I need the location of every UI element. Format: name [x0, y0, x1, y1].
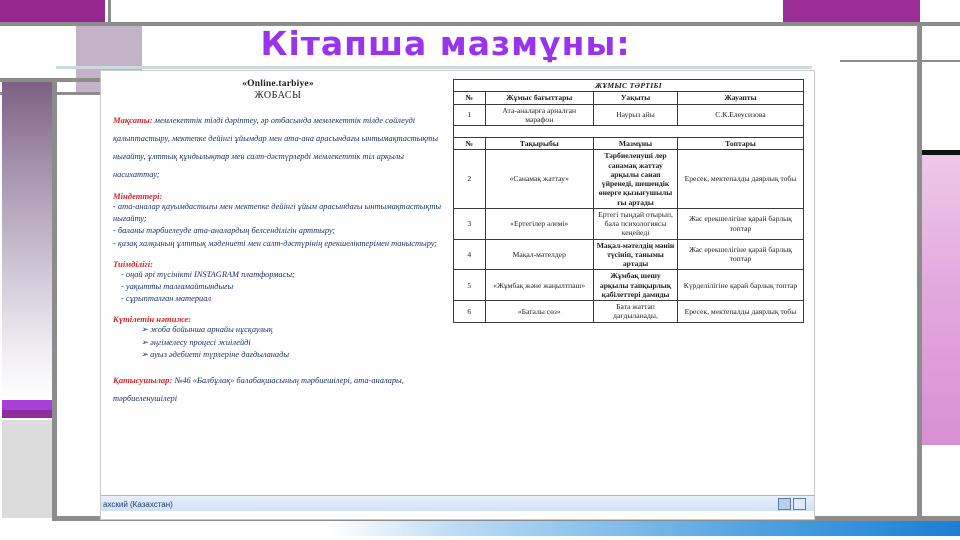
table-row: 4 Мақал-мәтелдер Мақал-мәтелдің мәнін тү… — [454, 239, 804, 270]
slide-canvas: Кітапша мазмұны: «Online.tarbiye» ЖОБАСЫ… — [0, 0, 960, 540]
document-page: «Online.tarbiye» ЖОБАСЫ Мақсаты: мемлеке… — [101, 71, 814, 495]
section-tiimdiligi: Тиімділігі: - оңай әрі түсінікті INSTAGR… — [113, 259, 443, 306]
cell-groups: Күрделілігіне қарай барлық топтар — [678, 270, 804, 301]
section-mindetteri: Міндеттері: - ата-аналар қауымдастығы ме… — [113, 191, 443, 250]
cell-groups: Ересек, мектепалды даярлық тобы — [678, 150, 804, 209]
cell-groups: Ересек, мектепалды даярлық тобы — [678, 301, 804, 323]
section-heading: Күтілетін нәтиже: — [113, 314, 443, 324]
schedule-table: ЖҰМЫС ТӘРТІБІ № Жұмыс бағыттары Уақыты Ж… — [453, 79, 804, 323]
column-header-groups: Топтары — [678, 138, 804, 150]
deco-bottom-white-band — [52, 521, 330, 540]
column-header-content: Мазмұны — [594, 138, 678, 150]
column-header-theme: Тақырыбы — [485, 138, 594, 150]
project-subtitle: ЖОБАСЫ — [113, 90, 443, 101]
cell-theme: «Санамақ жаттау» — [485, 150, 594, 209]
deco-left-vertical-rule — [52, 82, 57, 532]
cell-groups: Жас ерекшелігіне қарай барлық топтар — [678, 208, 804, 239]
deco-top-right-block — [783, 0, 920, 22]
list-item: - ата-аналар қауымдастығы мен мектепке д… — [113, 201, 443, 225]
deco-top-corner — [923, 0, 960, 22]
column-header-topic: Жұмыс бағыттары — [485, 92, 594, 104]
list-item: ➢ ауыз әдебиеті түрлеріне дағдыланады — [113, 349, 443, 361]
cell-no: 6 — [454, 301, 486, 323]
section-maqsaty: Мақсаты: мемлекеттік тілді дәріптеу, әр … — [113, 110, 443, 182]
document-text-pane: «Online.tarbiye» ЖОБАСЫ Мақсаты: мемлеке… — [101, 71, 453, 495]
cell-no: 2 — [454, 150, 486, 209]
cell-owner: С.К.Елеусизова — [678, 104, 804, 126]
section-qatysushylar: Қатысушылар: №46 «Балбұлақ» балабақшасын… — [113, 370, 443, 406]
section-heading: Мақсаты: — [113, 115, 153, 125]
list-item: - сұрыпталған материал — [113, 293, 443, 305]
project-name: «Online.tarbiye» — [113, 79, 443, 89]
view-mode-buttons[interactable] — [778, 498, 806, 510]
status-language-label: ахский (Казахстан) — [101, 500, 173, 509]
title-underline — [56, 66, 812, 69]
cell-topic: Ата-аналарға арналған марафон — [485, 104, 594, 126]
table-row: 2 «Санамақ жаттау» Тәрбиеленуші лер сана… — [454, 150, 804, 209]
table-spacer-row — [454, 126, 804, 138]
section-body: мемлекеттік тілді дәріптеу, әр отбасында… — [113, 116, 438, 179]
cell-time: Наурыз айы — [594, 104, 678, 126]
table-row: 5 «Жұмбақ және жаңылтпаш» Жұмбақ шешу ар… — [454, 270, 804, 301]
cell-content: Тәрбиеленуші лер санамақ жаттау арқылы с… — [594, 150, 678, 209]
table-caption: ЖҰМЫС ТӘРТІБІ — [454, 80, 804, 92]
document-bottom-margin — [101, 511, 814, 519]
cell-theme: «Жұмбақ және жаңылтпаш» — [485, 270, 594, 301]
cell-content: Мақал-мәтелдің мәнін түсініп, танымы арт… — [594, 239, 678, 270]
deco-right-hrule — [840, 60, 960, 62]
cell-no: 5 — [454, 270, 486, 301]
cell-theme: Мақал-мәтелдер — [485, 239, 594, 270]
list-item: ➢ әңгімелесу процесі жиілейді — [113, 337, 443, 349]
document-status-bar[interactable]: ахский (Казахстан) — [101, 495, 814, 512]
list-item: ➢ жоба бойынша арнайы нұсқаулық — [113, 324, 443, 336]
column-header-time: Уақыты — [594, 92, 678, 104]
list-item: - уақытты талғамайтындығы — [113, 281, 443, 293]
cell-content: Жұмбақ шешу арқылы тапқырлық қабілеттері… — [594, 270, 678, 301]
cell-theme: «Баталы сөз» — [485, 301, 594, 323]
section-kutiletin-natije: Күтілетін нәтиже: ➢ жоба бойынша арнайы … — [113, 314, 443, 361]
web-layout-view-icon[interactable] — [793, 498, 806, 510]
document-table-pane: ЖҰМЫС ТӘРТІБІ № Жұмыс бағыттары Уақыты Ж… — [453, 71, 814, 495]
table-row: 6 «Баталы сөз» Бата жаттап дағдыланады, … — [454, 301, 804, 323]
list-item: - оңай әрі түсінікті INSTAGRAM платформа… — [113, 269, 443, 281]
column-header-owner: Жауапты — [678, 92, 804, 104]
column-header-no: № — [454, 138, 486, 150]
cell-theme: «Ертегілер әлемі» — [485, 208, 594, 239]
deco-top-left-block — [0, 0, 105, 22]
section-heading: Міндеттері: — [113, 191, 443, 201]
spacer-cell — [454, 126, 804, 138]
cell-groups: Жас ерекшелігіне қарай барлық топтар — [678, 239, 804, 270]
embedded-document-window[interactable]: «Online.tarbiye» ЖОБАСЫ Мақсаты: мемлеке… — [100, 70, 815, 520]
deco-bottom-blue-band — [330, 521, 960, 536]
table-caption-row: ЖҰМЫС ТӘРТІБІ — [454, 80, 804, 92]
table-row: 3 «Ертегілер әлемі» Ертегі тыңдай отырып… — [454, 208, 804, 239]
deco-left-gray-block — [2, 420, 52, 518]
slide-title: Кітапша мазмұны: — [108, 24, 783, 62]
section-heading: Тиімділігі: — [113, 259, 443, 269]
cell-no: 4 — [454, 239, 486, 270]
list-item: - баланы тәрбиелеуде ата-аналардың белсе… — [113, 225, 443, 237]
print-layout-view-icon[interactable] — [778, 498, 791, 510]
deco-right-gradient-bar — [922, 155, 960, 445]
deco-top-middle-band — [108, 0, 786, 22]
deco-left-white-block — [0, 26, 72, 78]
cell-no: 1 — [454, 104, 486, 126]
section-heading: Қатысушылар: — [113, 375, 172, 385]
table-header-row-2: № Тақырыбы Мазмұны Топтары — [454, 138, 804, 150]
deco-left-purple-strip-a — [2, 400, 52, 410]
table-row: 1 Ата-аналарға арналған марафон Наурыз а… — [454, 104, 804, 126]
cell-content: Бата жаттап дағдыланады, — [594, 301, 678, 323]
deco-left-gradient-bar — [2, 82, 52, 398]
list-item: - қазақ халқының ұлттық мәдениеті мен са… — [113, 238, 443, 250]
column-header-no: № — [454, 92, 486, 104]
cell-content: Ертегі тыңдай отырып, бала психологиясы … — [594, 208, 678, 239]
cell-no: 3 — [454, 208, 486, 239]
table-header-row: № Жұмыс бағыттары Уақыты Жауапты — [454, 92, 804, 104]
deco-left-purple-strip-b — [2, 410, 52, 418]
